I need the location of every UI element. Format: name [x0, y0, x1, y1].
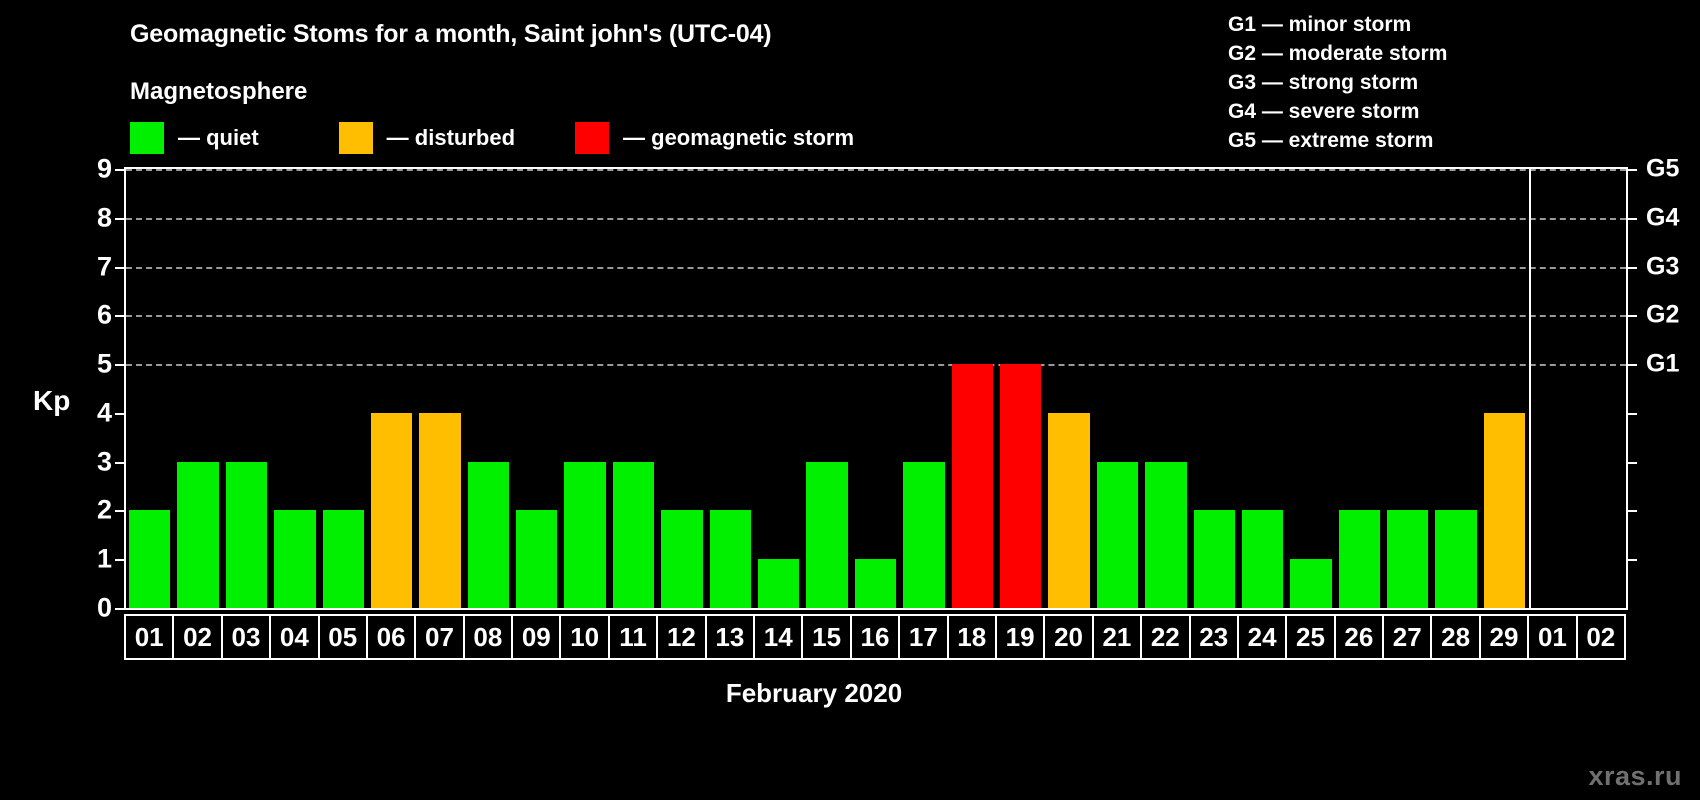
page-title: Geomagnetic Stoms for a month, Saint joh… — [130, 20, 771, 49]
bar-day-26[interactable] — [1339, 510, 1380, 608]
bar-day-21[interactable] — [1097, 462, 1138, 608]
bar-day-11[interactable] — [613, 462, 654, 608]
y-tick-label-2: 2 — [72, 495, 112, 526]
x-axis-day-label-19[interactable]: 20 — [1043, 614, 1093, 660]
gridline-g4 — [126, 218, 1626, 220]
legend-item-quiet: — quiet — [130, 122, 259, 154]
x-axis-day-label-18[interactable]: 19 — [995, 614, 1045, 660]
bar-day-08[interactable] — [468, 462, 509, 608]
gscale-legend-line-g4: G4 — severe storm — [1228, 97, 1447, 126]
y-tick-label-8: 8 — [72, 202, 112, 233]
plot-inner — [126, 169, 1626, 608]
bar-day-03[interactable] — [226, 462, 267, 608]
bar-day-28[interactable] — [1435, 510, 1476, 608]
x-axis-title: February 2020 — [726, 678, 902, 708]
legend-label-disturbed: — disturbed — [387, 125, 515, 151]
bar-day-04[interactable] — [274, 510, 315, 608]
x-axis-day-label-27[interactable]: 28 — [1430, 614, 1480, 660]
bar-day-20[interactable] — [1048, 413, 1089, 608]
x-axis-day-label-10[interactable]: 11 — [608, 614, 658, 660]
legend-swatch-quiet — [130, 122, 164, 154]
bar-day-15[interactable] — [806, 462, 847, 608]
x-axis-day-label-30[interactable]: 02 — [1576, 614, 1626, 660]
bar-day-06[interactable] — [371, 413, 412, 608]
x-axis-day-label-25[interactable]: 26 — [1334, 614, 1384, 660]
bar-day-09[interactable] — [516, 510, 557, 608]
gscale-legend-line-g3: G3 — strong storm — [1228, 68, 1447, 97]
bar-day-25[interactable] — [1290, 559, 1331, 608]
bar-day-23[interactable] — [1194, 510, 1235, 608]
y-tick-label-6: 6 — [72, 300, 112, 331]
y-tick-label-7: 7 — [72, 251, 112, 282]
bar-day-29[interactable] — [1484, 413, 1525, 608]
x-axis-day-label-14[interactable]: 15 — [801, 614, 851, 660]
bar-day-16[interactable] — [855, 559, 896, 608]
x-axis-day-label-1[interactable]: 02 — [172, 614, 222, 660]
x-axis-day-label-20[interactable]: 21 — [1092, 614, 1142, 660]
x-axis-day-label-29[interactable]: 01 — [1527, 614, 1577, 660]
x-axis-day-label-7[interactable]: 08 — [463, 614, 513, 660]
bar-day-24[interactable] — [1242, 510, 1283, 608]
gridline-g3 — [126, 267, 1626, 269]
x-axis-day-label-21[interactable]: 22 — [1140, 614, 1190, 660]
geomagnetic-storm-chart: Geomagnetic Stoms for a month, Saint joh… — [0, 0, 1700, 800]
x-axis-day-label-11[interactable]: 12 — [656, 614, 706, 660]
x-axis-day-label-16[interactable]: 17 — [898, 614, 948, 660]
magnetosphere-legend: — quiet — disturbed — geomagnetic storm — [130, 122, 854, 154]
x-axis-day-label-17[interactable]: 18 — [947, 614, 997, 660]
g-tick-label-g5: G5 — [1646, 155, 1700, 184]
x-axis-day-label-23[interactable]: 24 — [1237, 614, 1287, 660]
x-axis-day-label-0[interactable]: 01 — [124, 614, 174, 660]
x-axis-day-label-5[interactable]: 06 — [366, 614, 416, 660]
legend-label-quiet: — quiet — [178, 125, 259, 151]
y-tick-label-5: 5 — [72, 349, 112, 380]
x-axis-day-label-26[interactable]: 27 — [1382, 614, 1432, 660]
bar-day-07[interactable] — [419, 413, 460, 608]
gridline-g5 — [126, 169, 1626, 171]
gscale-legend-line-g5: G5 — extreme storm — [1228, 126, 1447, 155]
x-axis-day-label-9[interactable]: 10 — [559, 614, 609, 660]
bar-day-10[interactable] — [564, 462, 605, 608]
g-tick-label-g3: G3 — [1646, 252, 1700, 281]
x-axis-title-wrap: February 2020 — [124, 678, 1504, 709]
y-tick-label-3: 3 — [72, 446, 112, 477]
legend-item-storm: — geomagnetic storm — [575, 122, 854, 154]
x-axis-day-label-4[interactable]: 05 — [318, 614, 368, 660]
current-time-line — [1529, 169, 1531, 608]
g-tick-label-g2: G2 — [1646, 301, 1700, 330]
x-axis-day-label-12[interactable]: 13 — [705, 614, 755, 660]
bar-day-12[interactable] — [661, 510, 702, 608]
x-axis-day-label-2[interactable]: 03 — [221, 614, 271, 660]
gridline-g2 — [126, 315, 1626, 317]
bar-day-14[interactable] — [758, 559, 799, 608]
y-axis-title: Kp — [33, 385, 70, 417]
gscale-legend-line-g2: G2 — moderate storm — [1228, 39, 1447, 68]
y-tick-label-1: 1 — [72, 544, 112, 575]
g-tick-label-g1: G1 — [1646, 350, 1700, 379]
bar-day-19[interactable] — [1000, 364, 1041, 608]
bar-day-17[interactable] — [903, 462, 944, 608]
x-axis-day-label-28[interactable]: 29 — [1479, 614, 1529, 660]
y-tick-label-4: 4 — [72, 397, 112, 428]
y-tick-label-9: 9 — [72, 154, 112, 185]
gscale-legend-line-g1: G1 — minor storm — [1228, 10, 1447, 39]
legend-swatch-disturbed — [339, 122, 373, 154]
magnetosphere-legend-heading: Magnetosphere — [130, 78, 307, 106]
x-axis-day-label-13[interactable]: 14 — [753, 614, 803, 660]
g-tick-label-g4: G4 — [1646, 203, 1700, 232]
plot-area — [124, 167, 1628, 610]
watermark: xras.ru — [1588, 761, 1682, 792]
x-axis-day-label-22[interactable]: 23 — [1189, 614, 1239, 660]
bar-day-22[interactable] — [1145, 462, 1186, 608]
bar-day-18[interactable] — [952, 364, 993, 608]
bar-day-27[interactable] — [1387, 510, 1428, 608]
x-axis-day-label-15[interactable]: 16 — [850, 614, 900, 660]
legend-label-storm: — geomagnetic storm — [623, 125, 854, 151]
legend-item-disturbed: — disturbed — [339, 122, 515, 154]
x-axis-day-label-6[interactable]: 07 — [414, 614, 464, 660]
x-axis-day-label-8[interactable]: 09 — [511, 614, 561, 660]
bar-day-01[interactable] — [129, 510, 170, 608]
x-axis-day-label-24[interactable]: 25 — [1285, 614, 1335, 660]
bar-day-05[interactable] — [323, 510, 364, 608]
gridline-g1 — [126, 364, 1626, 366]
y-tick-label-0: 0 — [72, 593, 112, 624]
x-axis-day-label-3[interactable]: 04 — [269, 614, 319, 660]
x-axis-day-labels: 0102030405060708091011121314151617181920… — [124, 614, 1628, 660]
bar-day-13[interactable] — [710, 510, 751, 608]
bar-day-02[interactable] — [177, 462, 218, 608]
gscale-legend: G1 — minor storm G2 — moderate storm G3 … — [1228, 10, 1447, 155]
legend-swatch-storm — [575, 122, 609, 154]
